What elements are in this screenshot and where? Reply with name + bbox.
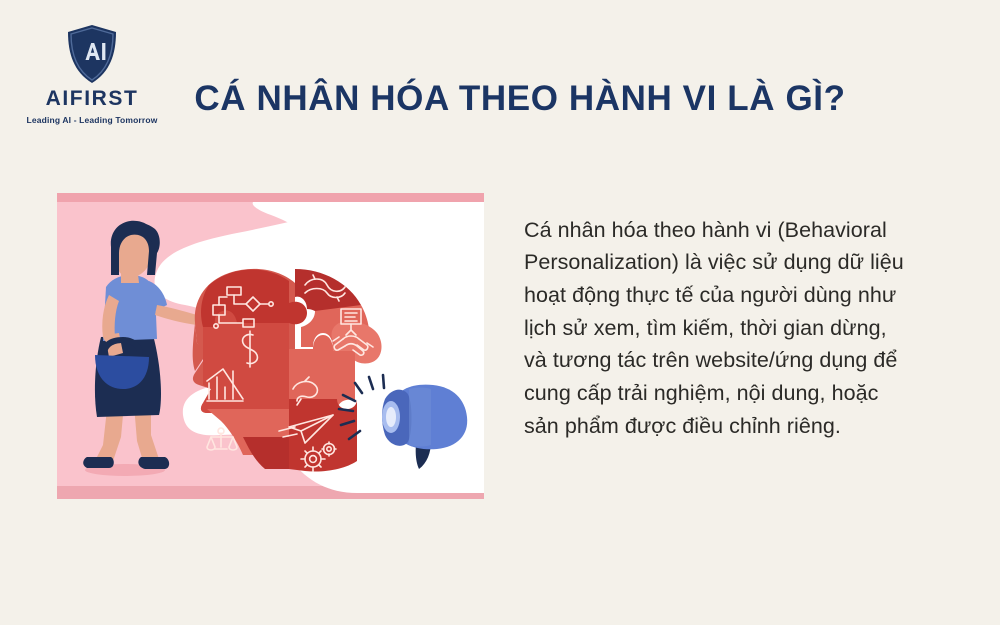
puzzle-head [193, 269, 382, 472]
back-shoe [83, 457, 114, 468]
logo-tagline: Leading AI - Leading Tomorrow [22, 116, 162, 125]
page-title: CÁ NHÂN HÓA THEO HÀNH VI LÀ GÌ? [170, 79, 870, 118]
body-paragraph: Cá nhân hóa theo hành vi (Behavioral Per… [524, 214, 914, 443]
shield-ai-icon [66, 24, 118, 84]
behavioral-personalization-illustration [57, 193, 484, 499]
slide-canvas: AIFIRST Leading AI - Leading Tomorrow CÁ… [0, 0, 1000, 625]
megaphone-mouth-inner [386, 407, 396, 427]
front-shoe [138, 457, 169, 469]
megaphone-highlight [409, 388, 431, 447]
illustration-top-band [57, 193, 484, 202]
logo-wordmark: AIFIRST [22, 88, 162, 109]
brand-logo: AIFIRST Leading AI - Leading Tomorrow [22, 24, 162, 125]
